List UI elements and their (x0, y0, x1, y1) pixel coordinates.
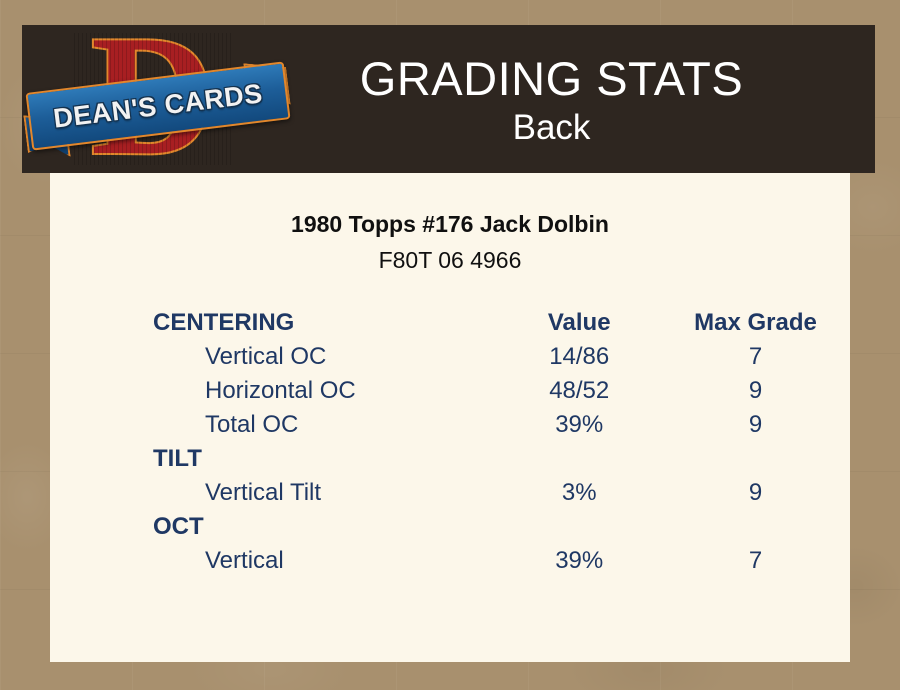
header-title-block: GRADING STATS Back (288, 50, 875, 149)
grading-stats-body: CENTERING Value Max Grade Vertical OC 14… (50, 306, 850, 578)
column-header-value: Value (505, 306, 665, 340)
table-header-row: CENTERING Value Max Grade (50, 306, 850, 340)
row-label: Vertical Tilt (50, 476, 505, 510)
row-value: 39% (505, 408, 665, 442)
card-code: F80T 06 4966 (50, 246, 850, 274)
table-row: Vertical OC 14/86 7 (50, 340, 850, 374)
table-row: Vertical 39% 7 (50, 544, 850, 578)
row-grade: 7 (665, 544, 850, 578)
row-value: 14/86 (505, 340, 665, 374)
deans-cards-logo[interactable]: D DEAN'S CARDS (22, 25, 288, 173)
row-label: Horizontal OC (50, 374, 505, 408)
section-label: OCT (50, 510, 505, 544)
row-grade: 9 (665, 374, 850, 408)
card-title: 1980 Topps #176 Jack Dolbin (50, 210, 850, 238)
section-value-spacer (505, 442, 665, 476)
table-row: Horizontal OC 48/52 9 (50, 374, 850, 408)
section-header-oct: OCT (50, 510, 850, 544)
row-label: Vertical OC (50, 340, 505, 374)
section-label: TILT (50, 442, 505, 476)
grading-stats-table: CENTERING Value Max Grade Vertical OC 14… (50, 306, 850, 578)
row-grade: 7 (665, 340, 850, 374)
row-grade: 9 (665, 408, 850, 442)
section-grade-spacer (665, 510, 850, 544)
section-grade-spacer (665, 442, 850, 476)
content-panel: 1980 Topps #176 Jack Dolbin F80T 06 4966… (50, 173, 850, 662)
logo-banner-label: DEAN'S CARDS (52, 78, 265, 134)
row-label: Vertical (50, 544, 505, 578)
page-subtitle: Back (288, 107, 815, 149)
row-value: 48/52 (505, 374, 665, 408)
column-header-max-grade: Max Grade (665, 306, 850, 340)
section-header-tilt: TILT (50, 442, 850, 476)
section-value-spacer (505, 510, 665, 544)
page-title: GRADING STATS (288, 50, 815, 107)
column-header-centering: CENTERING (50, 306, 505, 340)
header-bar: D DEAN'S CARDS GRADING STATS Back (22, 25, 875, 173)
row-value: 39% (505, 544, 665, 578)
table-row: Vertical Tilt 3% 9 (50, 476, 850, 510)
row-label: Total OC (50, 408, 505, 442)
row-grade: 9 (665, 476, 850, 510)
table-row: Total OC 39% 9 (50, 408, 850, 442)
row-value: 3% (505, 476, 665, 510)
